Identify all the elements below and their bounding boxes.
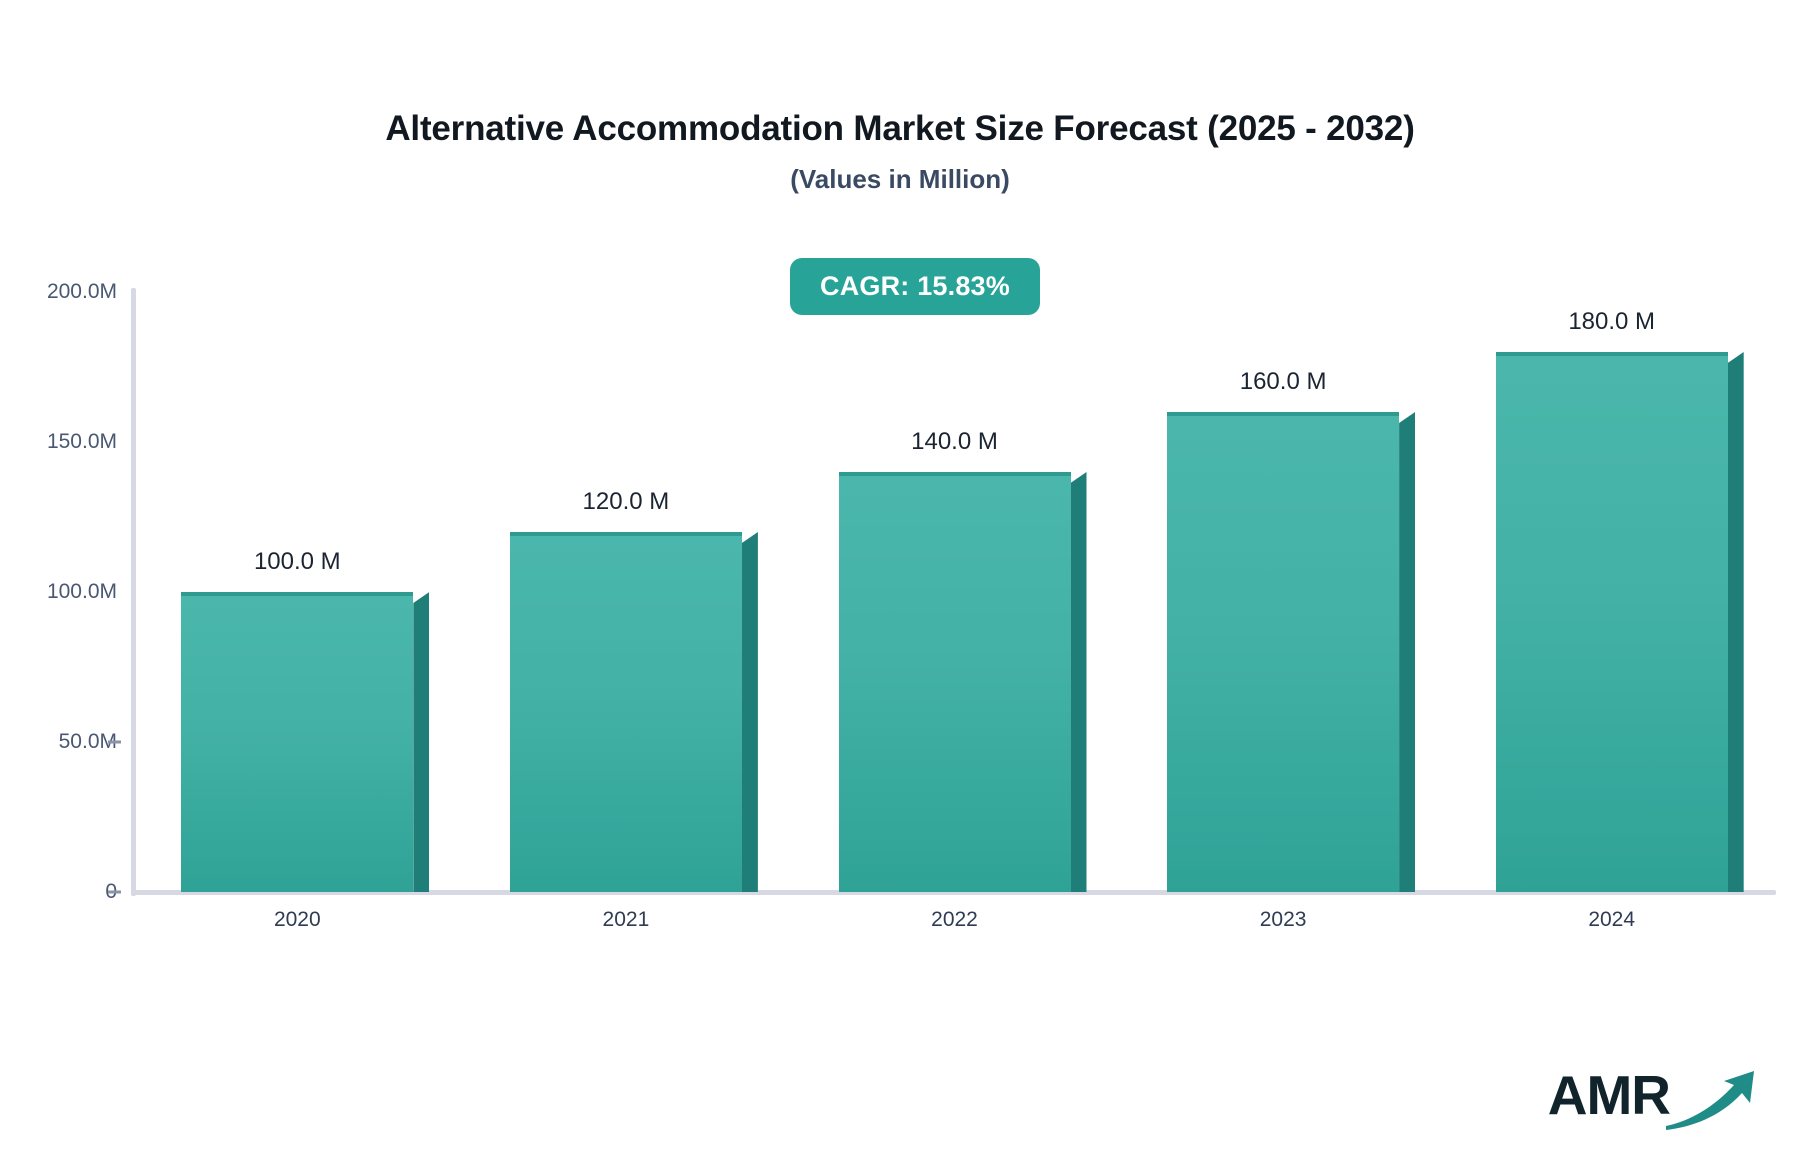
y-axis-tick-label: 100.0M bbox=[47, 580, 117, 604]
y-axis-tick-label: 200.0M bbox=[47, 280, 117, 304]
y-axis-tick-mark bbox=[108, 741, 121, 744]
plot-area: 100.0 M120.0 M140.0 M160.0 M180.0 M bbox=[133, 292, 1773, 892]
chart-container: Alternative Accommodation Market Size Fo… bbox=[0, 0, 1800, 1156]
y-axis-tick-mark bbox=[108, 891, 121, 894]
bar-value-label: 160.0 M bbox=[1240, 368, 1327, 396]
x-axis-tick-label-2023: 2023 bbox=[1260, 908, 1307, 932]
bar-2020[interactable]: 100.0 M bbox=[181, 592, 413, 892]
bar-value-label: 120.0 M bbox=[583, 488, 670, 516]
x-axis-tick-label-2020: 2020 bbox=[274, 908, 321, 932]
bar-2023[interactable]: 160.0 M bbox=[1167, 412, 1399, 892]
chart-subtitle: (Values in Million) bbox=[0, 165, 1800, 194]
bar-front-face bbox=[839, 472, 1071, 892]
bar-side-face bbox=[742, 532, 758, 892]
amr-logo: AMR bbox=[1548, 1059, 1760, 1131]
bar-value-label: 180.0 M bbox=[1568, 308, 1655, 336]
amr-logo-text: AMR bbox=[1548, 1068, 1670, 1123]
y-axis-tick-label: 150.0M bbox=[47, 430, 117, 454]
bar-side-face bbox=[413, 592, 429, 892]
growth-arrow-icon bbox=[1664, 1069, 1760, 1131]
bar-value-label: 100.0 M bbox=[254, 548, 341, 576]
page-title: Alternative Accommodation Market Size Fo… bbox=[0, 110, 1800, 149]
bar-front-face bbox=[181, 592, 413, 892]
bar-2021[interactable]: 120.0 M bbox=[510, 532, 742, 892]
bar-2022[interactable]: 140.0 M bbox=[839, 472, 1071, 892]
chart-title-block: Alternative Accommodation Market Size Fo… bbox=[0, 110, 1800, 193]
bar-front-face bbox=[1496, 352, 1728, 892]
y-axis-tick-labels: 050.0M100.0M150.0M200.0M bbox=[0, 0, 117, 1156]
bar-front-face bbox=[1167, 412, 1399, 892]
x-axis-tick-label-2021: 2021 bbox=[603, 908, 650, 932]
bar-2024[interactable]: 180.0 M bbox=[1496, 352, 1728, 892]
bar-front-face bbox=[510, 532, 742, 892]
x-axis-tick-label-2024: 2024 bbox=[1588, 908, 1635, 932]
bar-side-face bbox=[1728, 352, 1744, 892]
bar-value-label: 140.0 M bbox=[911, 428, 998, 456]
bar-side-face bbox=[1071, 472, 1087, 892]
x-axis-tick-label-2022: 2022 bbox=[931, 908, 978, 932]
bar-side-face bbox=[1399, 412, 1415, 892]
